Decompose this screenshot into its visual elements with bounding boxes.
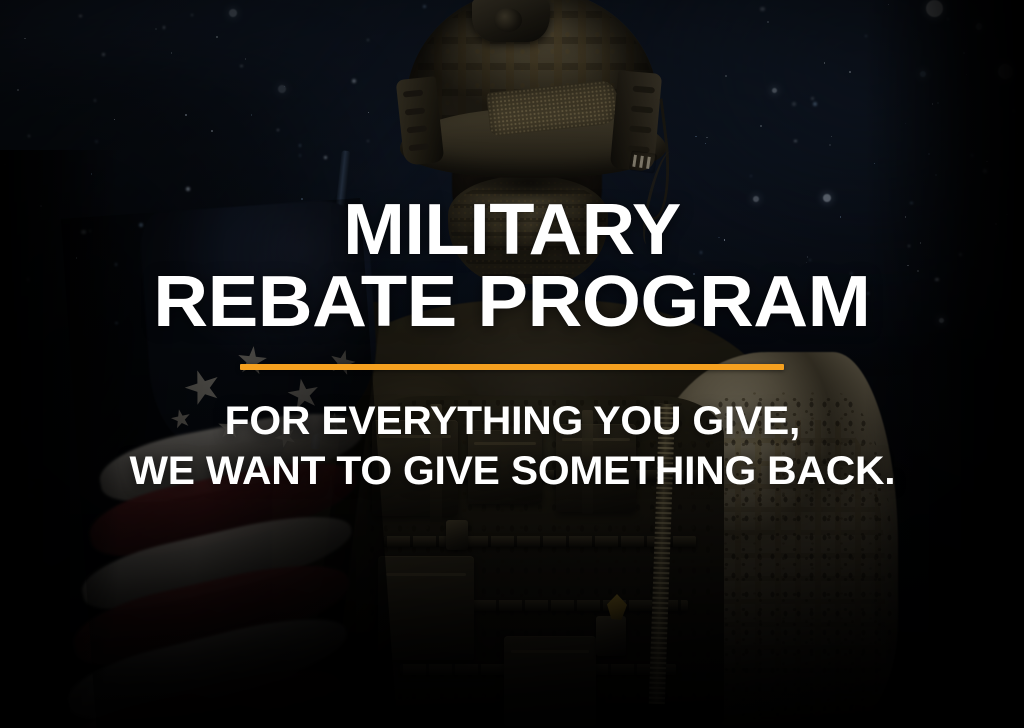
vest-strap bbox=[430, 404, 442, 522]
vest-pouch bbox=[468, 430, 542, 504]
military-rebate-banner: MILITARY REBATE PROGRAM FOR EVERYTHING Y… bbox=[0, 0, 1024, 728]
vest-strap bbox=[582, 410, 593, 514]
vest-pouch bbox=[378, 556, 474, 660]
vest-pouch bbox=[372, 420, 458, 516]
molle-webbing-row bbox=[384, 536, 696, 547]
vest-pouch bbox=[556, 424, 636, 512]
nvg-mount-bolt bbox=[494, 8, 522, 32]
american-flag bbox=[61, 198, 397, 728]
vest-buckle bbox=[446, 520, 468, 550]
flag-fold-shading bbox=[61, 198, 397, 728]
vest-buckle bbox=[596, 616, 626, 656]
vest-pouch bbox=[504, 636, 596, 726]
